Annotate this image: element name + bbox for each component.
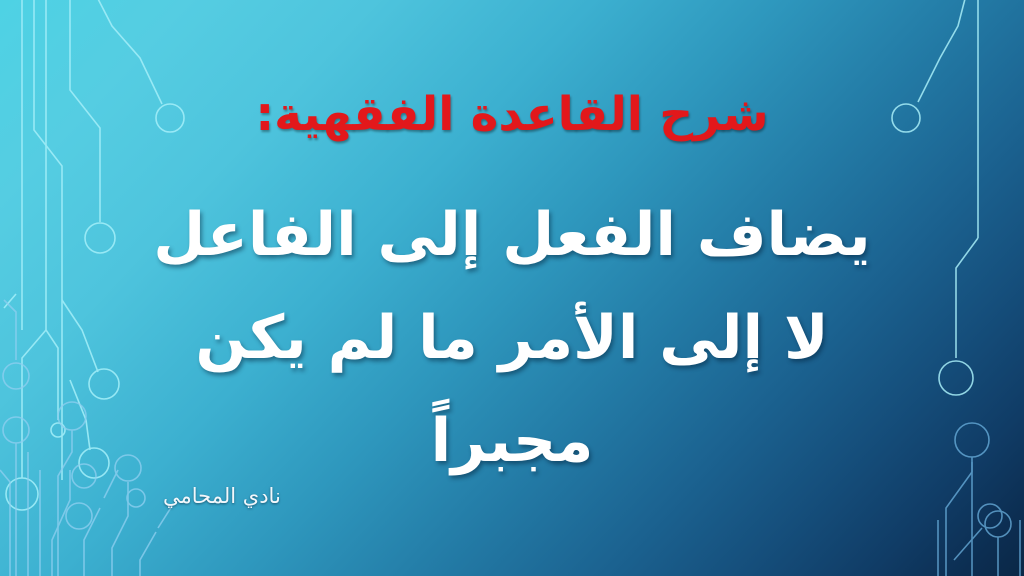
body-line-3: مجبراً <box>60 390 964 493</box>
body-line-2: لا إلى الأمر ما لم يكن <box>60 287 964 390</box>
page-title: شرح القاعدة الفقهية: <box>0 86 1024 143</box>
slide-content: شرح القاعدة الفقهية: يضاف الفعل إلى الفا… <box>0 0 1024 576</box>
slide-canvas: شرح القاعدة الفقهية: يضاف الفعل إلى الفا… <box>0 0 1024 576</box>
body-line-1: يضاف الفعل إلى الفاعل <box>60 184 964 287</box>
footer-attribution: نادي المحامي <box>163 483 281 510</box>
body-text-block: يضاف الفعل إلى الفاعل لا إلى الأمر ما لم… <box>60 184 964 494</box>
